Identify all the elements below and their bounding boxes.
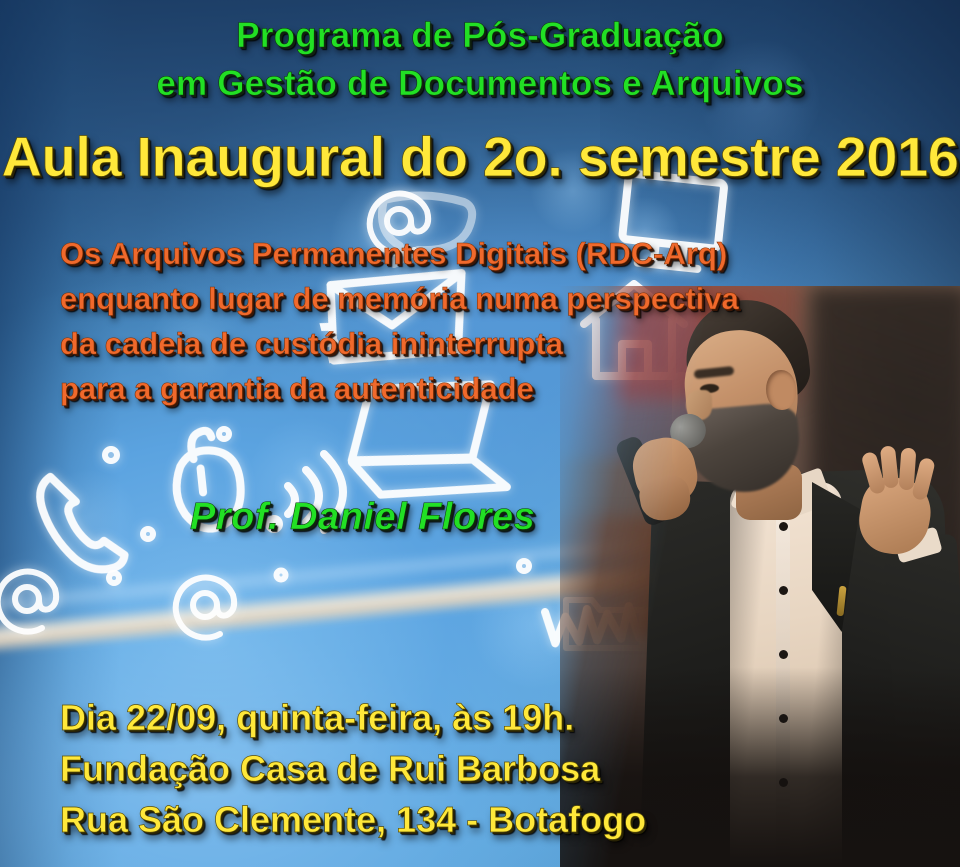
venue-line-2: Fundação Casa de Rui Barbosa xyxy=(60,748,600,790)
lecture-title-line-3: da cadeia de custódia ininterrupta xyxy=(60,326,563,362)
venue-line-3: Rua São Clemente, 134 - Botafogo xyxy=(60,799,646,841)
venue-line-1: Dia 22/09, quinta-feira, às 19h. xyxy=(60,697,574,739)
speaker-name: Prof. Daniel Flores xyxy=(190,496,535,539)
shirt-button xyxy=(779,650,788,659)
program-line-1: Programa de Pós-Graduação xyxy=(0,16,960,56)
poster-title: Aula Inaugural do 2o. semestre 2016 xyxy=(0,124,960,189)
shirt-button xyxy=(779,522,788,531)
program-line-2: em Gestão de Documentos e Arquivos xyxy=(0,64,960,104)
lecture-title-line-2: enquanto lugar de memória numa perspecti… xyxy=(60,281,739,317)
speaker-photo xyxy=(560,286,960,867)
lecture-title-line-1: Os Arquivos Permanentes Digitais (RDC-Ar… xyxy=(60,236,727,272)
lecture-title-line-4: para a garantia da autenticidade xyxy=(60,371,534,407)
shirt-button xyxy=(779,586,788,595)
ear xyxy=(766,370,796,410)
poster-canvas: Programa de Pós-Graduação em Gestão de D… xyxy=(0,0,960,867)
